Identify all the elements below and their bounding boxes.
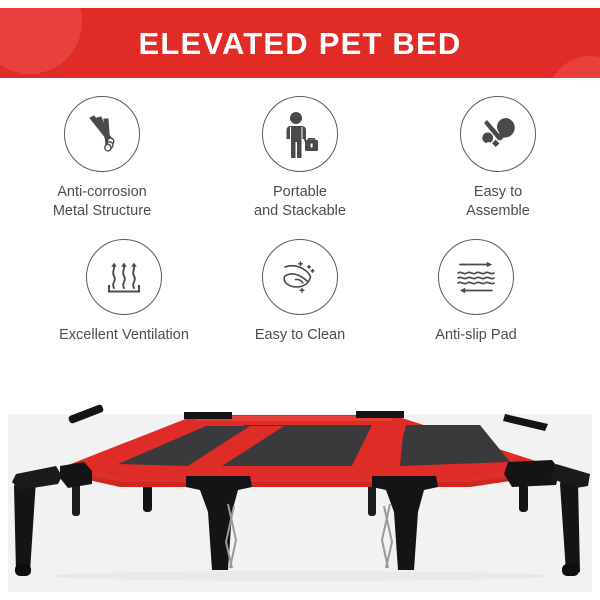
bed-front-legs — [14, 474, 580, 576]
page-title: ELEVATED PET BED — [0, 8, 600, 78]
feature-row-2: Excellent Ventilation — [0, 221, 600, 345]
anti-slip-waves-icon — [438, 239, 514, 315]
infographic-page: ELEVATED PET BED — [0, 0, 600, 600]
feature-portable-and-stackable: Portable and Stackable — [216, 96, 384, 221]
airflow-arrows-icon — [86, 239, 162, 315]
feature-easy-to-clean: Easy to Clean — [216, 239, 384, 345]
pet-bed-illustration — [0, 392, 600, 600]
feature-excellent-ventilation: Excellent Ventilation — [40, 239, 208, 345]
feature-label: Anti-slip Pad — [435, 326, 516, 345]
metal-tubes-icon — [64, 96, 140, 172]
feature-label: Easy to Clean — [255, 326, 345, 345]
wiping-hand-sparkle-icon — [262, 239, 338, 315]
feature-anti-slip-pad: Anti-slip Pad — [392, 239, 560, 345]
header-banner: ELEVATED PET BED — [0, 8, 600, 78]
feature-grid: Anti-corrosion Metal Structure — [0, 96, 600, 345]
feature-label: Anti-corrosion Metal Structure — [53, 183, 151, 221]
feature-label: Excellent Ventilation — [59, 326, 189, 345]
feature-label: Portable and Stackable — [254, 183, 346, 221]
person-with-briefcase-icon — [262, 96, 338, 172]
feature-anti-corrosion-metal-structure: Anti-corrosion Metal Structure — [18, 96, 186, 221]
bed-deck — [66, 415, 551, 487]
feature-row-1: Anti-corrosion Metal Structure — [0, 96, 600, 221]
feature-label: Easy to Assemble — [466, 183, 530, 221]
wrench-screwdriver-icon — [460, 96, 536, 172]
elevated-pet-bed-photo — [0, 392, 600, 600]
bed-center-supports — [186, 476, 438, 570]
feature-easy-to-assemble: Easy to Assemble — [414, 96, 582, 221]
